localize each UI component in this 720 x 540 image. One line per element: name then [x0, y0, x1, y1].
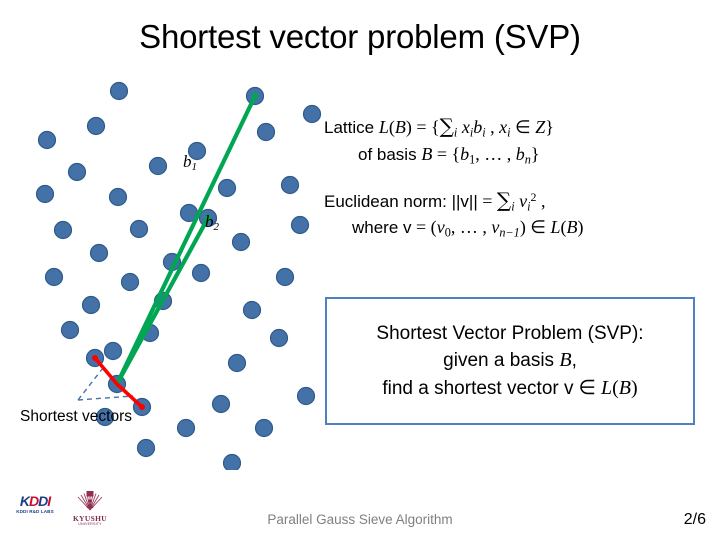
lattice-point: [292, 217, 309, 234]
lattice-point: [244, 302, 261, 319]
lattice-point: [233, 234, 250, 251]
basis-label-b2: b2: [205, 212, 219, 233]
logo-strip: KDDI KDDI R&D LABS: [8, 490, 118, 534]
lattice-point: [304, 106, 321, 123]
lattice-point: [178, 420, 195, 437]
basis-label-b1-sub: 1: [192, 161, 198, 173]
lattice-point: [69, 164, 86, 181]
lattice-point: [150, 158, 167, 175]
shortest-vector-endpoint: [92, 355, 98, 361]
lattice-point: [219, 180, 236, 197]
lattice-point: [224, 455, 241, 471]
euclidean-norm-prefix: Euclidean norm:: [324, 192, 452, 211]
euclidean-norm-line-2: where v = (v0, … , vn−1) ∈ L(B): [324, 215, 714, 242]
kyushu-logo-name: KYUSHU: [64, 515, 116, 522]
lattice-point: [138, 440, 155, 457]
basis-label-b2-sub: 2: [214, 221, 220, 233]
basis-label-b1: b1: [183, 152, 197, 173]
slide-canvas: Shortest vector problem (SVP) b1 b2 Shor…: [0, 0, 720, 540]
basis-vector-endpoint: [252, 93, 259, 100]
lattice-definition-line-1: Lattice L(B) = {∑i xibi , xi ∈ Z}: [324, 112, 714, 142]
lattice-point: [122, 274, 139, 291]
page-title: Shortest vector problem (SVP): [0, 18, 720, 56]
svp-definition-line-3: find a shortest vector v ∈ L(B): [382, 375, 637, 402]
lattice-point: [88, 118, 105, 135]
lattice-point: [37, 186, 54, 203]
math-column: Lattice L(B) = {∑i xibi , xi ∈ Z} of bas…: [324, 112, 714, 242]
kyushu-crest-icon: [64, 490, 116, 514]
shortest-vector: [117, 384, 142, 407]
euclidean-norm-line-1: Euclidean norm: ||v|| = ∑i vi2 ,: [324, 186, 714, 216]
page-number: 2/6: [684, 511, 706, 529]
lattice-point: [110, 189, 127, 206]
lattice-point: [256, 420, 273, 437]
shortest-vectors-annotation: Shortest vectors: [20, 408, 132, 426]
lattice-point: [111, 83, 128, 100]
lattice-point: [298, 388, 315, 405]
basis-label-b1-text: b: [183, 152, 192, 171]
kyushu-logo: KYUSHU UNIVERSITY: [64, 490, 116, 527]
lattice-point: [213, 396, 230, 413]
shortest-vector-endpoint: [139, 404, 145, 410]
basis-vector-b2: [117, 218, 208, 384]
lattice-point: [277, 269, 294, 286]
lattice-point: [105, 343, 122, 360]
lattice-point: [131, 221, 148, 238]
lattice-definition-line-2: of basis B = {b1, … , bn}: [324, 142, 714, 169]
svp-definition-line-1: Shortest Vector Problem (SVP):: [376, 320, 643, 347]
lattice-diagram: b1 b2 Shortest vectors: [0, 70, 330, 470]
svp-definition-line-1-text: Shortest Vector Problem (SVP):: [376, 323, 643, 344]
lattice-point: [39, 132, 56, 149]
leader-line: [78, 368, 103, 400]
lattice-point: [258, 124, 275, 141]
svp-definition-box: Shortest Vector Problem (SVP): given a b…: [325, 297, 695, 425]
svp-definition-line-2: given a basis B,: [443, 347, 577, 374]
lattice-point: [91, 245, 108, 262]
shortest-vector: [95, 358, 117, 384]
lattice-definition-prefix: Lattice: [324, 118, 379, 137]
lattice-point: [46, 269, 63, 286]
lattice-point: [62, 322, 79, 339]
lattice-definition: Lattice L(B) = {∑i xibi , xi ∈ Z} of bas…: [324, 112, 714, 169]
lattice-point: [55, 222, 72, 239]
leader-line: [78, 396, 133, 400]
lattice-point: [83, 297, 100, 314]
kddi-logo-subtitle: KDDI R&D LABS: [10, 510, 60, 515]
lattice-point: [229, 355, 246, 372]
basis-label-b2-text: b: [205, 212, 214, 231]
lattice-point: [271, 330, 288, 347]
lattice-point: [193, 265, 210, 282]
euclidean-norm-definition: Euclidean norm: ||v|| = ∑i vi2 , where v…: [324, 186, 714, 243]
lattice-point: [282, 177, 299, 194]
kddi-logo: KDDI KDDI R&D LABS: [10, 494, 60, 515]
kddi-wordmark: KDDI: [10, 494, 60, 508]
kyushu-logo-subtitle: UNIVERSITY: [64, 522, 116, 526]
